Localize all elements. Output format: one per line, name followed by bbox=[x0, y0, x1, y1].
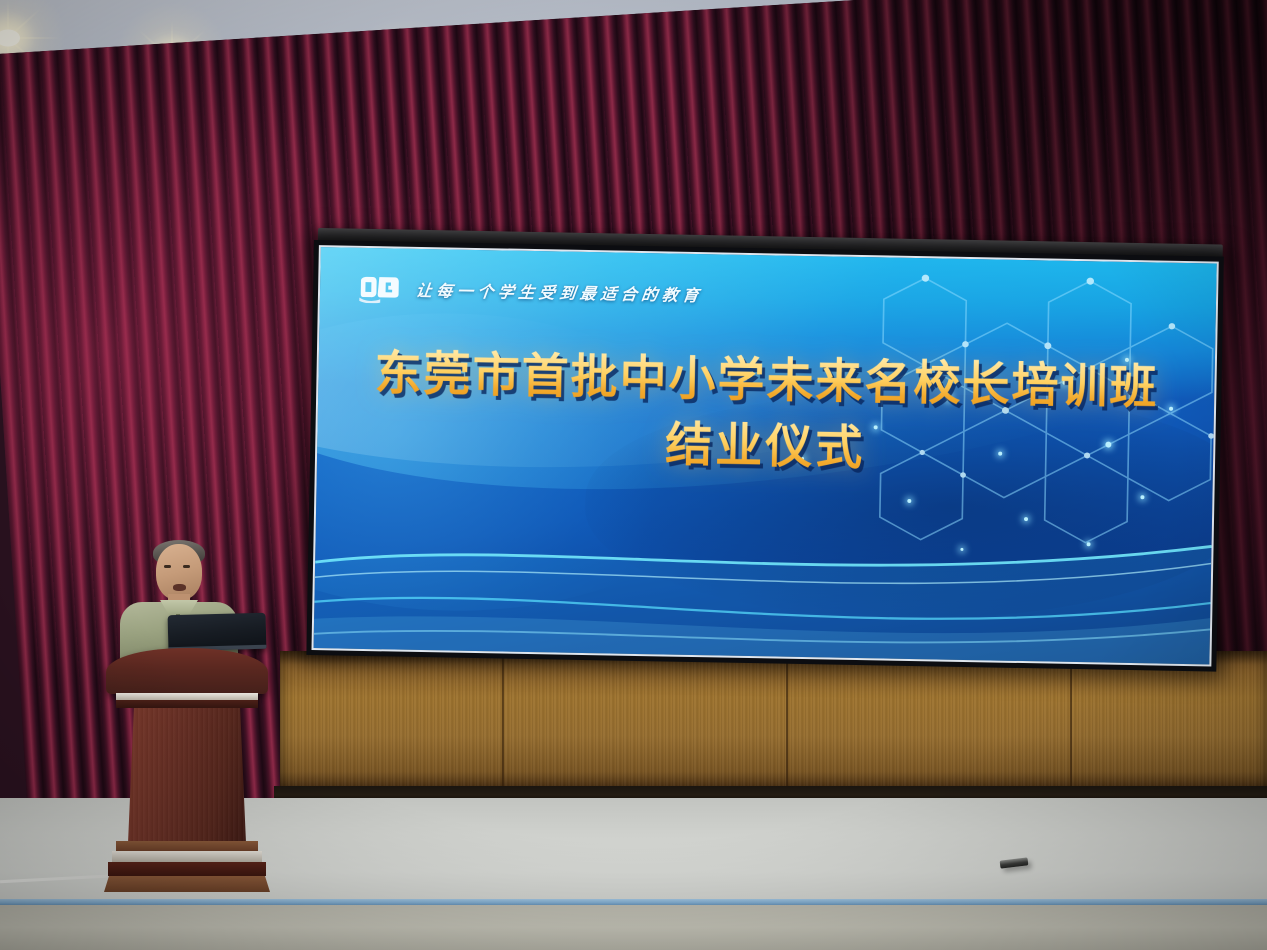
screen-title-block: 东莞市首批中小学未来名校长培训班 结业仪式 bbox=[317, 347, 1215, 487]
lectern-trim bbox=[116, 700, 258, 708]
lectern-base bbox=[108, 862, 266, 876]
screen-surface: 让每一个学生受到最适合的教育 东莞市首批中小学未来名校长培训班 结业仪式 bbox=[311, 245, 1218, 666]
presenter-mouth bbox=[173, 584, 186, 591]
lectern-body bbox=[128, 708, 246, 843]
flowing-light-ribbons bbox=[313, 496, 1212, 667]
glow-particle bbox=[1141, 495, 1145, 499]
wooden-lectern bbox=[106, 648, 268, 893]
wood-panel-seam bbox=[1070, 651, 1072, 788]
lectern-trim bbox=[116, 693, 258, 700]
lectern-base bbox=[116, 841, 258, 851]
screen-slogan: 让每一个学生受到最适合的教育 bbox=[414, 277, 704, 306]
front-floor bbox=[0, 905, 1267, 950]
presenter-head bbox=[156, 544, 202, 600]
presenter-eye bbox=[183, 565, 190, 568]
wood-panel-seam bbox=[502, 651, 504, 788]
screen-header-band: 让每一个学生受到最适合的教育 bbox=[319, 247, 1216, 344]
lectern-top bbox=[106, 648, 268, 694]
laptop-computer bbox=[168, 613, 267, 652]
stage-wood-paneling bbox=[280, 651, 1267, 788]
wood-panel-seam bbox=[786, 651, 788, 788]
lectern-base bbox=[112, 851, 262, 862]
dongguan-education-logo bbox=[357, 273, 400, 304]
lectern-base bbox=[104, 876, 270, 892]
presenter-eye bbox=[164, 565, 171, 568]
auditorium-scene: 让每一个学生受到最适合的教育 东莞市首批中小学未来名校长培训班 结业仪式 bbox=[0, 0, 1267, 950]
led-display-screen: 让每一个学生受到最适合的教育 东莞市首批中小学未来名校长培训班 结业仪式 bbox=[306, 240, 1223, 672]
